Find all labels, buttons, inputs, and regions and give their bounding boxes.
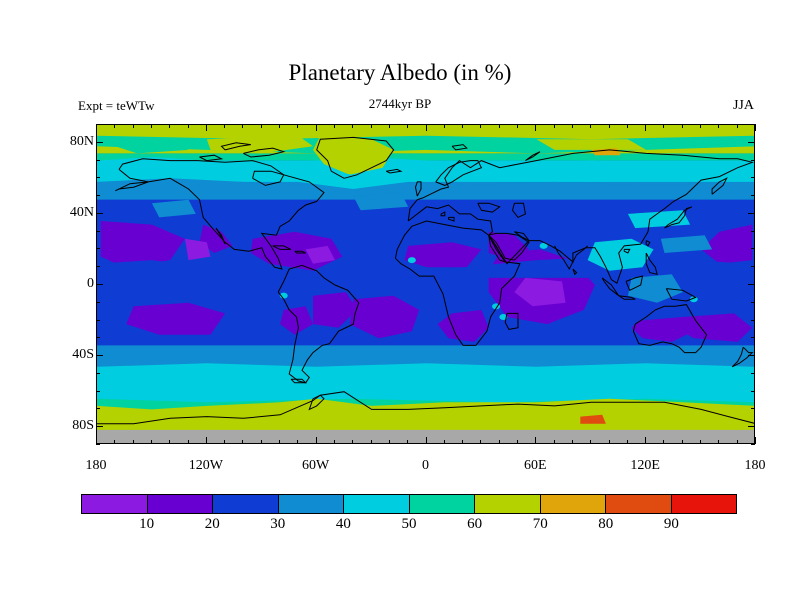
x-axis-label-60W: 60W xyxy=(281,458,351,474)
x-tick xyxy=(316,437,317,444)
x-tick xyxy=(718,440,719,444)
map-plot-area xyxy=(96,124,755,444)
x-tick xyxy=(224,440,225,444)
y-tick xyxy=(748,426,755,427)
y-tick xyxy=(751,177,755,178)
y-axis-label-40S: 40S xyxy=(34,347,94,363)
colorbar-band-80-90 xyxy=(606,495,672,513)
y-tick xyxy=(96,355,103,356)
colorbar-tick-80: 80 xyxy=(576,516,636,533)
y-tick xyxy=(751,373,755,374)
x-axis-label-120W: 120W xyxy=(171,458,241,474)
figure-title: Planetary Albedo (in %) xyxy=(0,60,800,86)
y-axis-label-0: 0 xyxy=(34,276,94,292)
x-tick xyxy=(700,124,701,128)
y-tick xyxy=(96,426,103,427)
colorbar-tick-40: 40 xyxy=(313,516,373,533)
y-tick xyxy=(96,444,100,445)
x-tick xyxy=(114,440,115,444)
x-axis-label-120E: 120E xyxy=(610,458,680,474)
colorbar-band-90-100 xyxy=(672,495,737,513)
x-tick xyxy=(517,440,518,444)
x-axis-label-0: 0 xyxy=(391,458,461,474)
y-tick xyxy=(96,248,100,249)
x-tick xyxy=(206,124,207,131)
x-tick xyxy=(590,124,591,128)
x-tick xyxy=(535,437,536,444)
x-tick xyxy=(535,124,536,131)
x-tick xyxy=(133,124,134,128)
x-tick xyxy=(297,124,298,128)
x-tick xyxy=(627,124,628,128)
x-tick xyxy=(316,124,317,131)
y-tick xyxy=(751,195,755,196)
y-tick xyxy=(751,320,755,321)
y-tick xyxy=(748,213,755,214)
x-tick xyxy=(645,124,646,131)
siberian-arctic-ice xyxy=(536,139,646,150)
y-tick xyxy=(751,444,755,445)
x-tick xyxy=(371,124,372,128)
y-tick xyxy=(96,195,100,196)
band-arctic xyxy=(97,153,755,160)
y-tick xyxy=(751,391,755,392)
x-tick xyxy=(371,440,372,444)
colorbar-band-40-50 xyxy=(344,495,410,513)
x-tick xyxy=(480,124,481,128)
x-tick xyxy=(590,440,591,444)
x-tick xyxy=(407,124,408,128)
x-tick xyxy=(133,440,134,444)
y-tick xyxy=(96,266,100,267)
y-tick xyxy=(751,408,755,409)
y-tick xyxy=(748,355,755,356)
x-tick xyxy=(426,124,427,131)
x-tick xyxy=(462,440,463,444)
x-tick xyxy=(572,440,573,444)
x-tick xyxy=(499,124,500,128)
x-tick xyxy=(627,440,628,444)
x-tick xyxy=(407,440,408,444)
colorbar-band-30-40 xyxy=(279,495,345,513)
x-tick xyxy=(663,124,664,128)
x-tick xyxy=(261,440,262,444)
x-tick xyxy=(499,440,500,444)
so-cyan xyxy=(97,363,755,388)
y-tick xyxy=(96,408,100,409)
y-tick xyxy=(96,337,100,338)
y-tick xyxy=(751,160,755,161)
x-tick xyxy=(554,440,555,444)
colorbar-band-50-60 xyxy=(410,495,476,513)
colorbar-tick-10: 10 xyxy=(117,516,177,533)
colorbar xyxy=(81,494,737,514)
colorbar-tick-70: 70 xyxy=(510,516,570,533)
x-tick xyxy=(737,440,738,444)
colorbar-tick-30: 30 xyxy=(248,516,308,533)
x-tick xyxy=(700,440,701,444)
y-tick xyxy=(96,177,100,178)
x-tick xyxy=(426,437,427,444)
x-tick xyxy=(242,440,243,444)
x-tick xyxy=(279,124,280,128)
x-tick xyxy=(169,124,170,128)
experiment-label: Expt = teWTw xyxy=(78,98,154,114)
colorbar-tick-90: 90 xyxy=(641,516,701,533)
x-axis-label-180: 180 xyxy=(61,458,131,474)
x-tick xyxy=(334,124,335,128)
coastal-cloud-spot xyxy=(408,257,416,263)
x-tick xyxy=(96,437,97,444)
y-tick xyxy=(96,284,103,285)
albedo-field xyxy=(97,125,755,444)
season-label: JJA xyxy=(733,98,754,114)
y-tick xyxy=(751,124,755,125)
y-tick xyxy=(751,266,755,267)
x-tick xyxy=(645,437,646,444)
y-axis-label-40N: 40N xyxy=(34,205,94,221)
y-tick xyxy=(96,302,100,303)
y-tick xyxy=(748,142,755,143)
x-tick xyxy=(224,124,225,128)
x-tick xyxy=(444,124,445,128)
y-tick xyxy=(751,248,755,249)
y-tick xyxy=(96,213,103,214)
y-tick xyxy=(751,231,755,232)
y-tick xyxy=(751,302,755,303)
x-tick xyxy=(609,124,610,128)
colorbar-tick-20: 20 xyxy=(182,516,242,533)
colorbar-band-70-80 xyxy=(541,495,607,513)
y-tick xyxy=(96,160,100,161)
x-tick xyxy=(188,440,189,444)
y-tick xyxy=(748,284,755,285)
x-tick xyxy=(663,440,664,444)
x-tick xyxy=(755,437,756,444)
x-tick xyxy=(279,440,280,444)
x-tick xyxy=(517,124,518,128)
x-tick xyxy=(169,440,170,444)
x-tick xyxy=(352,124,353,128)
colorbar-tick-60: 60 xyxy=(445,516,505,533)
x-axis-label-60E: 60E xyxy=(500,458,570,474)
y-tick xyxy=(96,124,100,125)
x-tick xyxy=(444,440,445,444)
x-tick xyxy=(242,124,243,128)
x-tick xyxy=(261,124,262,128)
y-tick xyxy=(96,142,103,143)
colorbar-band-10-20 xyxy=(148,495,214,513)
albedo-map-figure: Planetary Albedo (in %) 2744kyr BP Expt … xyxy=(0,0,800,600)
y-tick xyxy=(96,391,100,392)
x-tick xyxy=(151,124,152,128)
x-tick xyxy=(114,124,115,128)
x-tick xyxy=(206,437,207,444)
y-tick xyxy=(96,373,100,374)
colorbar-band-20-30 xyxy=(213,495,279,513)
y-axis-label-80N: 80N xyxy=(34,134,94,150)
x-tick xyxy=(188,124,189,128)
y-axis-label-80S: 80S xyxy=(34,418,94,434)
x-tick xyxy=(682,124,683,128)
colorbar-band-60-70 xyxy=(475,495,541,513)
x-tick xyxy=(480,440,481,444)
x-tick xyxy=(389,124,390,128)
x-tick xyxy=(96,124,97,131)
y-tick xyxy=(96,231,100,232)
x-tick xyxy=(151,440,152,444)
x-tick xyxy=(682,440,683,444)
x-tick xyxy=(352,440,353,444)
x-tick xyxy=(718,124,719,128)
x-axis-label-180: 180 xyxy=(720,458,790,474)
x-tick xyxy=(462,124,463,128)
x-tick xyxy=(609,440,610,444)
x-tick xyxy=(334,440,335,444)
colorbar-band-0-10 xyxy=(82,495,148,513)
x-tick xyxy=(572,124,573,128)
x-tick xyxy=(737,124,738,128)
y-tick xyxy=(751,337,755,338)
y-tick xyxy=(96,320,100,321)
x-tick xyxy=(554,124,555,128)
x-tick xyxy=(297,440,298,444)
colorbar-tick-50: 50 xyxy=(379,516,439,533)
x-tick xyxy=(755,124,756,131)
x-tick xyxy=(389,440,390,444)
